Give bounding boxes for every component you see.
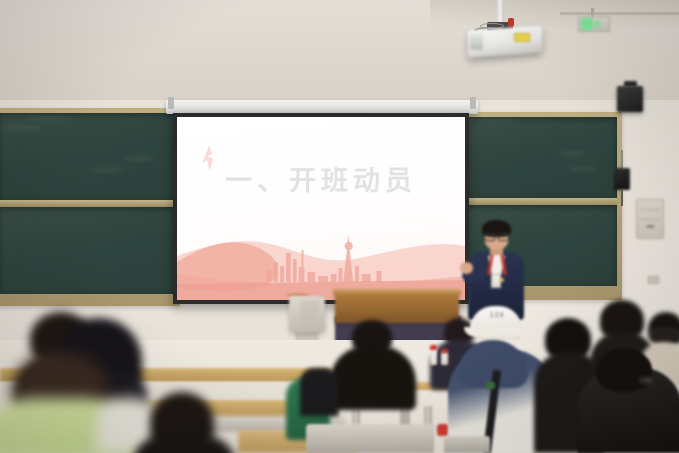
lectern-monitor xyxy=(289,296,325,332)
arrow-right-icon xyxy=(595,20,602,28)
hoodie-text: S.M. xyxy=(640,378,679,384)
projector-adjust-knob xyxy=(508,18,514,27)
chalkboard-left xyxy=(0,108,180,306)
presenter-id-badge xyxy=(491,274,501,288)
chalkboard-right-upper-panel xyxy=(463,117,617,198)
speaker-cable xyxy=(621,190,623,206)
slide-title: 一、开班动员 xyxy=(177,159,465,198)
wall-control-panel[interactable] xyxy=(636,199,664,239)
classroom-photo: 一、开班动员 xyxy=(0,0,679,453)
water-bottle-2 xyxy=(441,352,448,365)
strap-buckle xyxy=(486,382,495,389)
lectern-body xyxy=(335,293,459,323)
wall-speaker xyxy=(617,86,643,112)
water-bottle-cap xyxy=(430,345,437,350)
screen-bracket-right xyxy=(470,97,476,109)
seat-back xyxy=(306,424,434,453)
projector-label-sticker xyxy=(514,33,530,42)
speaker-grill-icon xyxy=(301,301,319,326)
running-person-icon xyxy=(581,18,593,30)
presentation-slide: 一、开班动员 xyxy=(177,117,465,300)
ceiling-rail xyxy=(560,12,679,15)
student-cap-text: 124 xyxy=(487,312,507,319)
student-body xyxy=(330,346,416,410)
student-green-jacket-body xyxy=(300,368,338,416)
student-head xyxy=(596,348,652,392)
student-head xyxy=(648,312,679,346)
seat-back-2 xyxy=(444,436,490,453)
water-bottle-cap-2 xyxy=(441,349,448,353)
exit-sign xyxy=(578,16,610,32)
lectern-top-edge xyxy=(333,289,461,295)
wall-speaker-small xyxy=(614,168,630,190)
presenter-hand xyxy=(460,262,473,274)
chalkboard-left-lower-panel xyxy=(0,207,175,294)
speaker-support-rod xyxy=(621,150,623,169)
projection-screen: 一、开班动员 xyxy=(173,113,469,304)
projection-screen-housing xyxy=(166,100,478,114)
screen-bracket-left xyxy=(168,97,174,109)
wall-outlet xyxy=(648,276,659,284)
chalk-tray-divider-right xyxy=(463,198,617,205)
chalk-tray-divider xyxy=(0,200,175,207)
student-cap-brim xyxy=(464,327,526,336)
student-glasses-icon xyxy=(650,330,679,337)
projector-lens xyxy=(470,33,483,50)
water-bottle xyxy=(430,348,437,365)
presenter-glasses-icon xyxy=(484,233,509,238)
